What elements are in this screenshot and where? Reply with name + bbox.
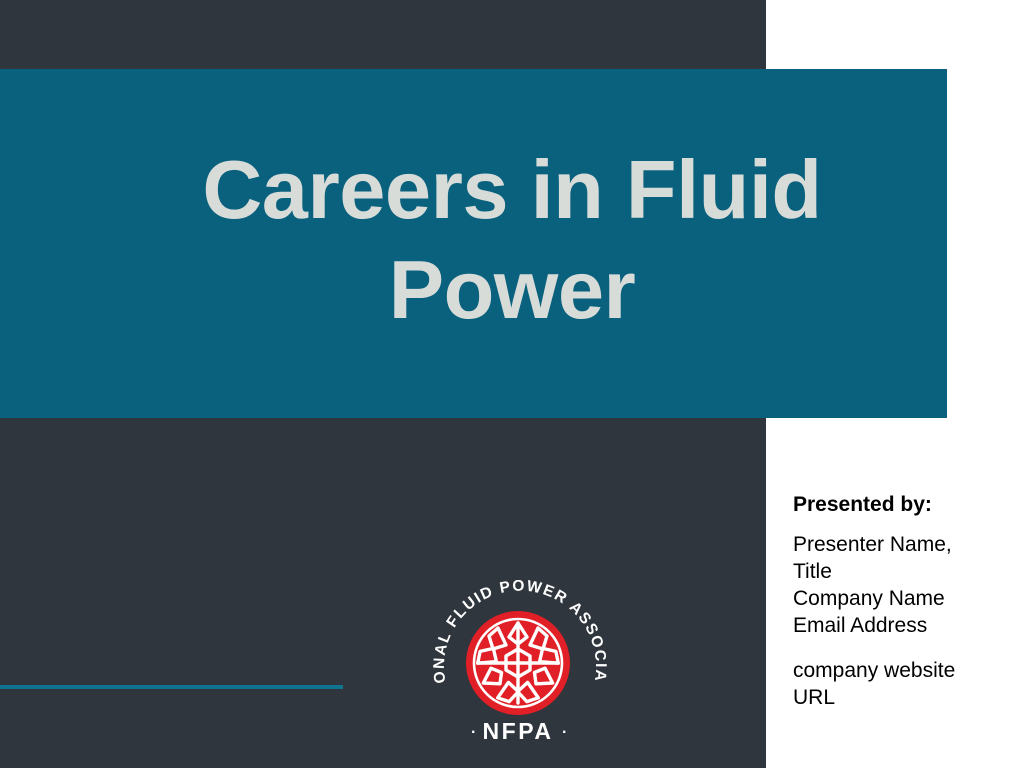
logo-dot-left: · [471,724,476,741]
nfpa-logo-graphic: NATIONAL FLUID POWER ASSOCIATION [432,580,608,748]
presenter-block: Presented by: Presenter Name, Title Comp… [793,492,993,711]
title-line-2: Power [0,240,1024,340]
company-website-line: company website [793,657,993,684]
presenter-detail-line: Presenter Name, [793,531,993,558]
nfpa-logo: NATIONAL FLUID POWER ASSOCIATION [432,580,608,748]
page-title: Careers in Fluid Power [0,140,1024,340]
logo-dot-right: · [562,724,567,741]
accent-divider [0,685,343,689]
presenter-detail-line: Title [793,558,993,585]
presenter-detail-line: Email Address [793,612,993,639]
company-website-line: URL [793,684,993,711]
slide-canvas: Careers in Fluid Power NATIONAL FLUID PO… [0,0,1024,768]
presenter-detail-line: Company Name [793,585,993,612]
presented-by-heading: Presented by: [793,492,993,518]
title-line-1: Careers in Fluid [0,140,1024,240]
presenter-details: Presenter Name, Title Company Name Email… [793,531,993,639]
logo-acronym: NFPA [483,718,554,744]
company-website[interactable]: company website URL [793,657,993,711]
